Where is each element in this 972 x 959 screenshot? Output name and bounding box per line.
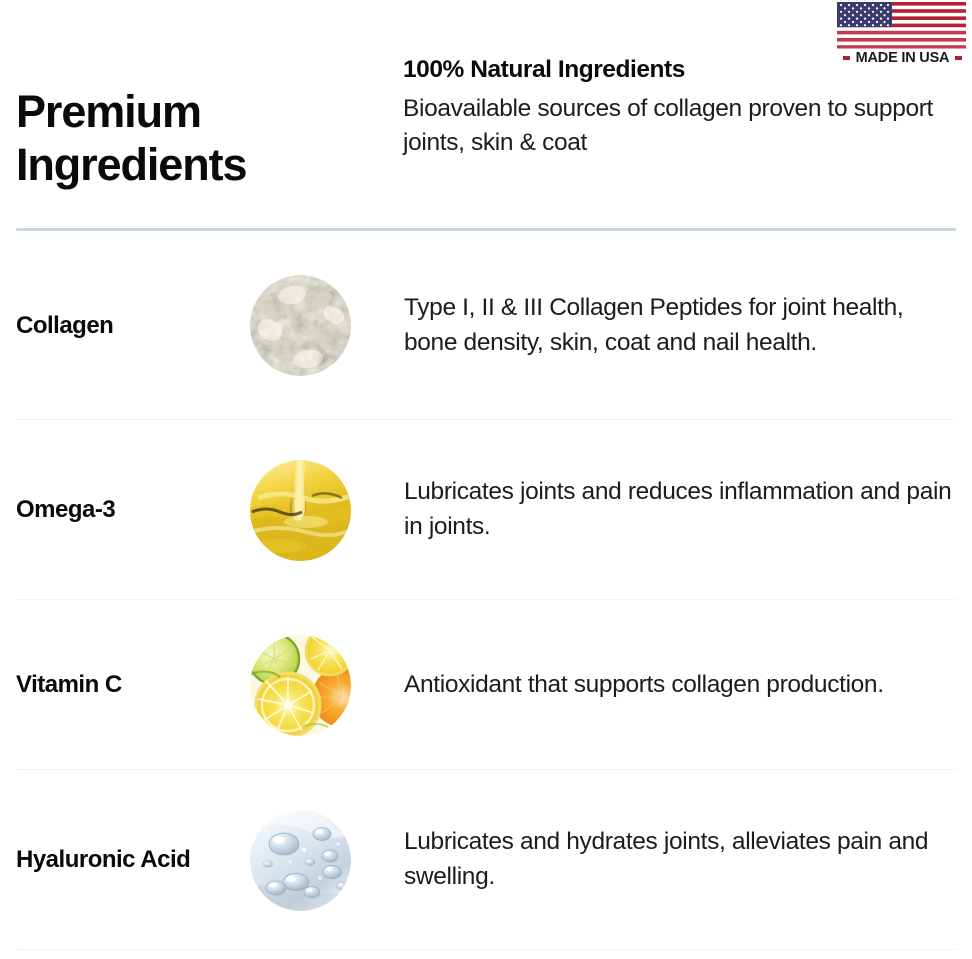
header-description-block: 100% Natural Ingredients Bioavailable so…: [403, 55, 948, 161]
ingredient-row-vitamin-c: Vitamin C: [0, 600, 972, 770]
ingredient-image-cell: [231, 635, 401, 736]
row-divider: [16, 949, 956, 950]
header-sub-text: Bioavailable sources of collagen proven …: [403, 92, 948, 162]
premium-ingredients-infographic: MADE IN USA Premium Ingredients 100% Nat…: [0, 0, 972, 959]
collagen-powder-swatch: [250, 275, 351, 376]
omega-3-oil-swatch: [250, 460, 351, 561]
vitamin-c-citrus-swatch: [250, 635, 351, 736]
ingredient-description: Lubricates and hydrates joints, alleviat…: [401, 825, 956, 895]
ingredient-row-hyaluronic-acid: Hyaluronic Acid: [0, 770, 972, 950]
ingredient-name: Vitamin C: [16, 669, 231, 701]
ingredient-name: Omega-3: [16, 494, 231, 526]
ingredient-description: Antioxidant that supports collagen produ…: [401, 668, 956, 703]
ingredient-name: Hyaluronic Acid: [16, 844, 231, 876]
page-title: Premium Ingredients: [16, 85, 376, 191]
ingredient-description: Type I, II & III Collagen Peptides for j…: [401, 291, 956, 361]
ingredient-image-cell: [231, 460, 401, 561]
header-lead-text: 100% Natural Ingredients: [403, 55, 948, 86]
ingredient-list: Collagen: [0, 231, 972, 950]
ingredient-image-cell: [231, 810, 401, 911]
ingredient-row-omega-3: Omega-3: [0, 420, 972, 600]
header: Premium Ingredients 100% Natural Ingredi…: [0, 0, 972, 229]
ingredient-row-collagen: Collagen: [0, 231, 972, 420]
ingredient-name: Collagen: [16, 310, 231, 342]
hyaluronic-acid-water-swatch: [250, 810, 351, 911]
ingredient-image-cell: [231, 275, 401, 376]
ingredient-description: Lubricates joints and reduces inflammati…: [401, 475, 956, 545]
